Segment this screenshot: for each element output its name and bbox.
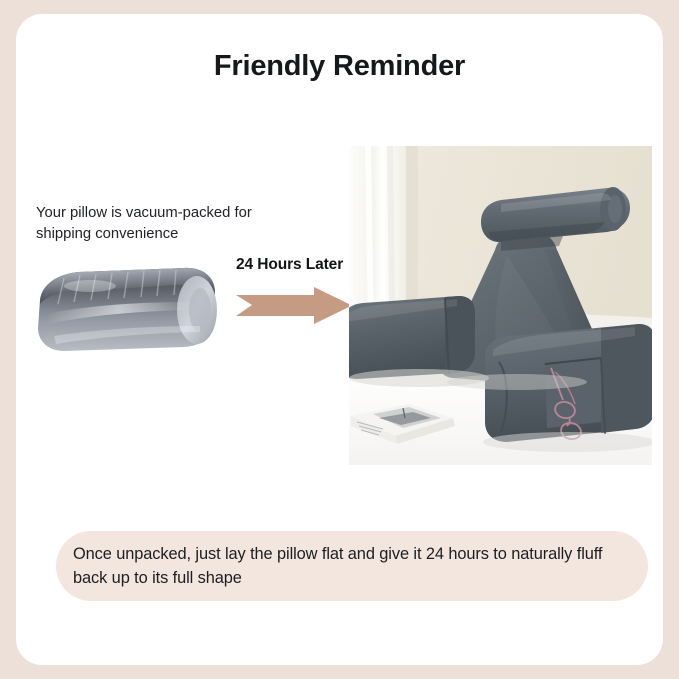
transition-label: 24 Hours Later [236, 256, 343, 274]
pillow-left-armrest [349, 296, 475, 379]
right-armrest-shadow [483, 432, 652, 452]
vacuum-pack-caption: Your pillow is vacuum-packed for shippin… [36, 203, 304, 245]
armrest-side-pocket [545, 358, 601, 428]
right-arrow-graphic [236, 286, 354, 326]
vacuum-packed-pillow-graphic [24, 258, 220, 356]
footer-note-banner: Once unpacked, just lay the pillow flat … [56, 531, 648, 601]
page-title: Friendly Reminder [0, 50, 679, 83]
roll-gloss-top [64, 280, 116, 292]
product-photo [349, 146, 652, 465]
right-armrest-rear [601, 324, 652, 433]
arrow-shape [236, 287, 352, 324]
reminder-infographic-page: Friendly Reminder Your pillow is vacuum-… [0, 0, 679, 679]
reading-pillow-scene [349, 146, 652, 465]
backrest-shadow [447, 374, 587, 390]
roll-end-inner [189, 288, 211, 332]
right-arrow-icon [236, 286, 354, 326]
footer-note-text: Once unpacked, just lay the pillow flat … [73, 542, 633, 590]
left-armrest-side [445, 296, 475, 374]
vacuum-packed-pillow-image [24, 258, 220, 356]
